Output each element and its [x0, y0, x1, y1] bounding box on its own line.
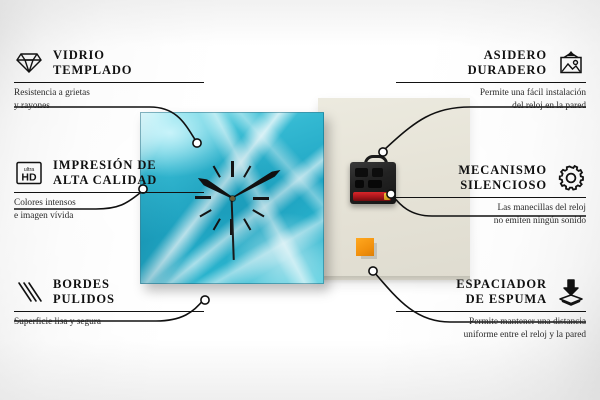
feature-title: VIDRIO TEMPLADO — [53, 48, 132, 78]
feature-title-line1: BORDES — [53, 277, 115, 292]
mechanism-detail — [355, 180, 364, 188]
feature-description: Permite mantener una distancia uniforme … — [396, 316, 586, 341]
feature-title-line1: VIDRIO — [53, 48, 132, 63]
feature-desc-line2: del reloj en la pared — [396, 100, 586, 113]
foam-spacer-sample — [356, 238, 374, 256]
feature-asidero-duradero: ASIDERO DURADERO Permite una fácil insta… — [396, 48, 586, 112]
feature-divider — [14, 311, 204, 312]
feature-divider — [14, 192, 204, 193]
diamond-icon — [14, 48, 44, 78]
feature-desc-line2: y rayones — [14, 100, 204, 113]
feature-title: MECANISMO SILENCIOSO — [458, 163, 547, 193]
feature-title-line1: ESPACIADOR — [456, 277, 547, 292]
feature-title-line1: ASIDERO — [468, 48, 547, 63]
feature-title: ASIDERO DURADERO — [468, 48, 547, 78]
feature-desc-line1: Resistencia a grietas — [14, 87, 204, 100]
feature-title: BORDES PULIDOS — [53, 277, 115, 307]
clock-mechanism — [350, 162, 396, 204]
feature-impresion-alta-calidad: ultra HD IMPRESIÓN DE ALTA CALIDAD Color… — [14, 158, 204, 222]
mechanism-detail — [368, 180, 382, 188]
feature-desc-line2: no emiten ningún sonido — [396, 215, 586, 228]
feature-description: Colores intensos e imagen vívida — [14, 197, 204, 222]
feature-divider — [396, 82, 586, 83]
mechanism-detail — [355, 168, 368, 177]
foam-spacer-icon — [556, 277, 586, 307]
feature-desc-line1: Las manecillas del reloj — [396, 202, 586, 215]
feature-description: Superficie lisa y segura — [14, 316, 204, 329]
feature-title-line2: DE ESPUMA — [456, 292, 547, 307]
feature-desc-line2: e imagen vívida — [14, 210, 204, 223]
feature-divider — [396, 311, 586, 312]
background-top-fade — [0, 0, 600, 46]
feature-mecanismo-silencioso: MECANISMO SILENCIOSO Las manecillas del … — [396, 163, 586, 227]
feature-bordes-pulidos: BORDES PULIDOS Superficie lisa y segura — [14, 277, 204, 329]
feature-title-line2: DURADERO — [468, 63, 547, 78]
feature-vidrio-templado: VIDRIO TEMPLADO Resistencia a grietas y … — [14, 48, 204, 112]
svg-text:HD: HD — [21, 172, 37, 184]
feature-title-line2: SILENCIOSO — [458, 178, 547, 193]
feature-desc-line1: Superficie lisa y segura — [14, 316, 204, 329]
picture-hanger-icon — [556, 48, 586, 78]
gear-icon — [556, 163, 586, 193]
feature-desc-line1: Permite mantener una distancia — [396, 316, 586, 329]
feature-desc-line2: uniforme entre el reloj y la pared — [396, 329, 586, 342]
feature-description: Resistencia a grietas y rayones — [14, 87, 204, 112]
feature-divider — [14, 82, 204, 83]
feature-title-line1: IMPRESIÓN DE — [53, 158, 157, 173]
ultra-hd-icon: ultra HD — [14, 158, 44, 188]
polished-edges-icon — [14, 277, 44, 307]
feature-title: ESPACIADOR DE ESPUMA — [456, 277, 547, 307]
feature-title-line1: MECANISMO — [458, 163, 547, 178]
feature-desc-line1: Colores intensos — [14, 197, 204, 210]
mechanism-detail — [372, 168, 383, 177]
feature-espaciador-de-espuma: ESPACIADOR DE ESPUMA Permite mantener un… — [396, 277, 586, 341]
feature-desc-line1: Permite una fácil instalación — [396, 87, 586, 100]
feature-description: Las manecillas del reloj no emiten ningú… — [396, 202, 586, 227]
feature-title: IMPRESIÓN DE ALTA CALIDAD — [53, 158, 157, 188]
infographic-canvas: VIDRIO TEMPLADO Resistencia a grietas y … — [0, 0, 600, 400]
feature-title-line2: ALTA CALIDAD — [53, 173, 157, 188]
battery-terminal — [384, 193, 390, 200]
feature-title-line2: TEMPLADO — [53, 63, 132, 78]
feature-description: Permite una fácil instalación del reloj … — [396, 87, 586, 112]
mechanism-body — [350, 162, 396, 204]
feature-title-line2: PULIDOS — [53, 292, 115, 307]
background-bottom-fade — [0, 340, 600, 400]
feature-divider — [396, 197, 586, 198]
mechanism-battery — [353, 192, 391, 201]
